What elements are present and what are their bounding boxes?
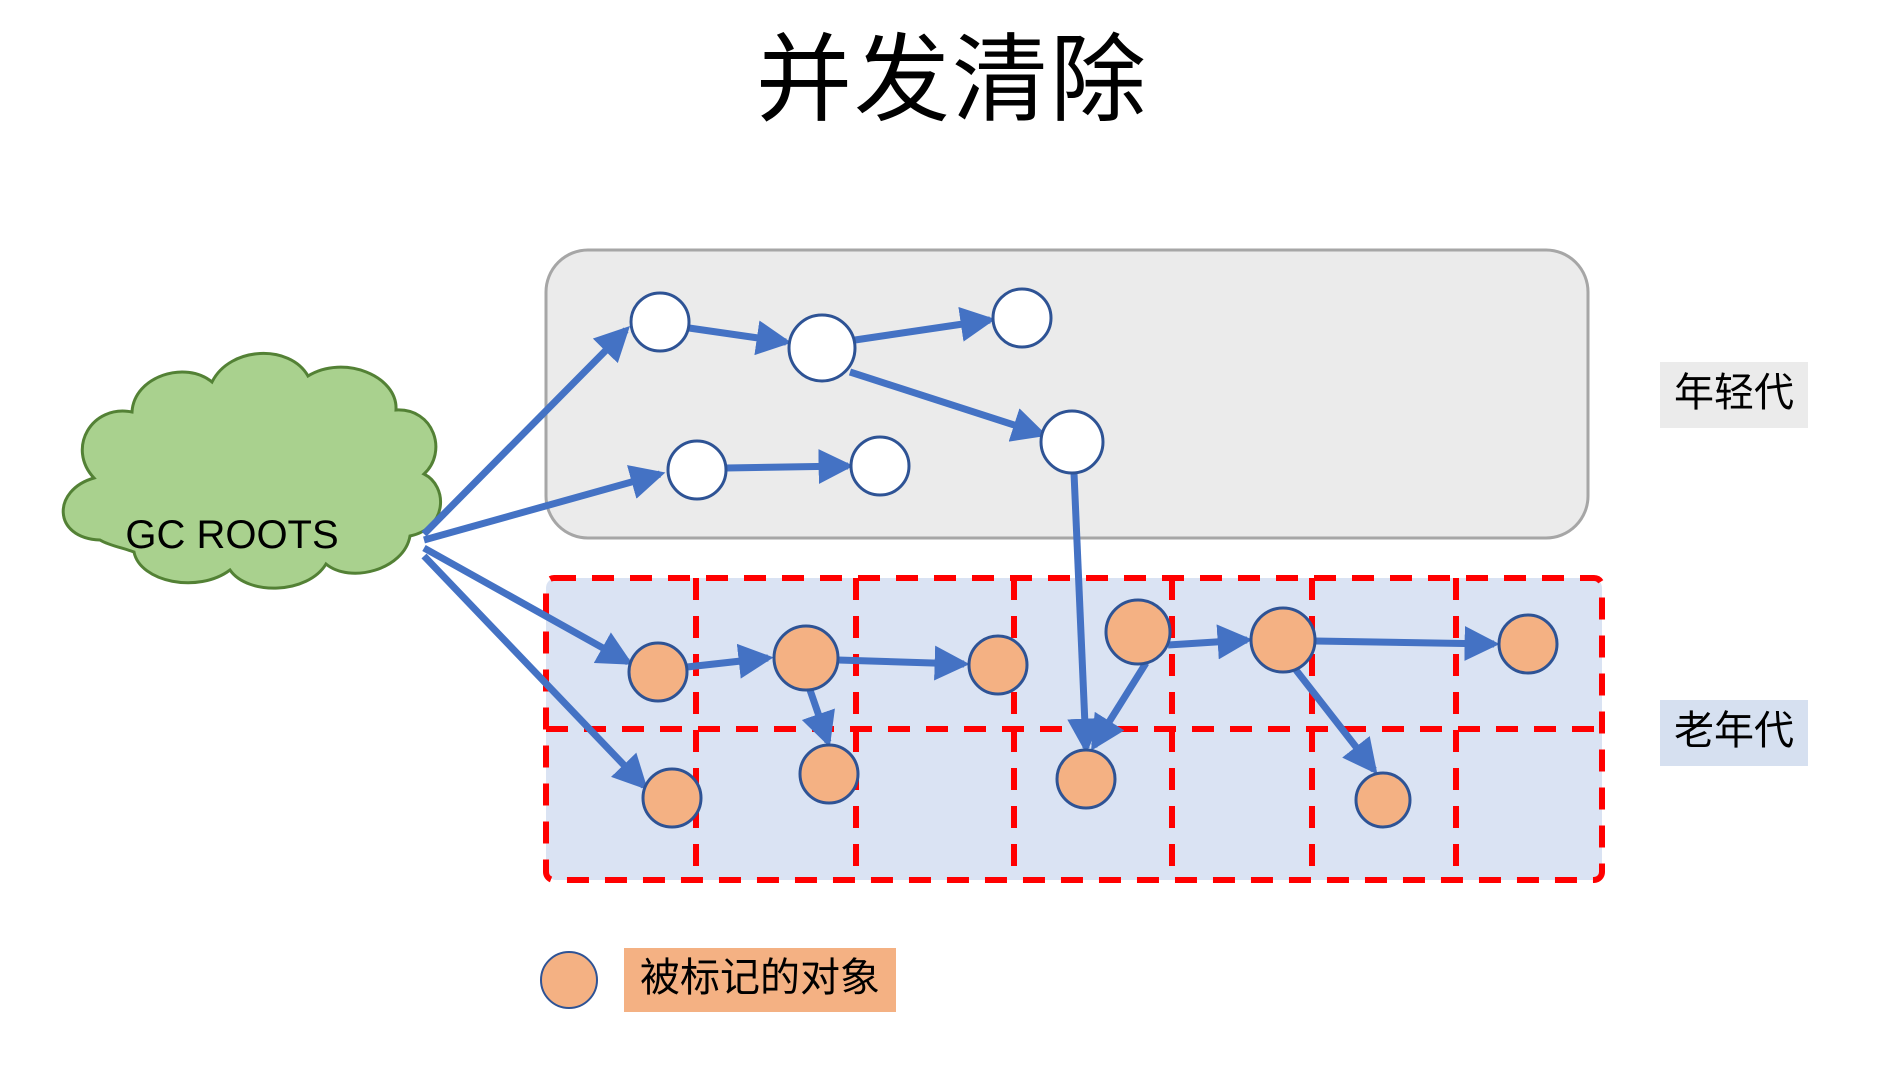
object-o5[interactable] (1251, 608, 1315, 672)
object-y4[interactable] (1041, 411, 1103, 473)
object-y3[interactable] (993, 289, 1051, 347)
object-o3[interactable] (969, 636, 1027, 694)
legend: 被标记的对象 (540, 948, 896, 1012)
object-y1[interactable] (631, 293, 689, 351)
object-o6[interactable] (1499, 615, 1557, 673)
object-o1[interactable] (629, 643, 687, 701)
object-o8[interactable] (800, 745, 858, 803)
object-o9[interactable] (1057, 750, 1115, 808)
gc-roots-cloud[interactable]: GC ROOTS (63, 353, 440, 588)
object-y6[interactable] (851, 437, 909, 495)
slide-canvas: 并发清除 GC ROOTS (0, 0, 1904, 1074)
young-generation-label: 年轻代 (1660, 362, 1808, 428)
object-y5[interactable] (668, 441, 726, 499)
object-o7[interactable] (643, 769, 701, 827)
edge-o5-o6 (1315, 641, 1494, 644)
edge-o4-o5 (1168, 640, 1247, 645)
object-o2[interactable] (774, 626, 838, 690)
legend-marked-object-icon (540, 951, 598, 1009)
edge-o2-o3 (838, 660, 964, 664)
legend-label: 被标记的对象 (624, 948, 896, 1012)
object-o4[interactable] (1106, 600, 1170, 664)
object-o10[interactable] (1356, 773, 1410, 827)
old-generation-label: 老年代 (1660, 700, 1808, 766)
object-y2[interactable] (789, 315, 855, 381)
edge-y5-y6 (726, 466, 848, 468)
gc-diagram: GC ROOTS (0, 0, 1904, 1074)
gc-roots-label: GC ROOTS (125, 513, 338, 557)
